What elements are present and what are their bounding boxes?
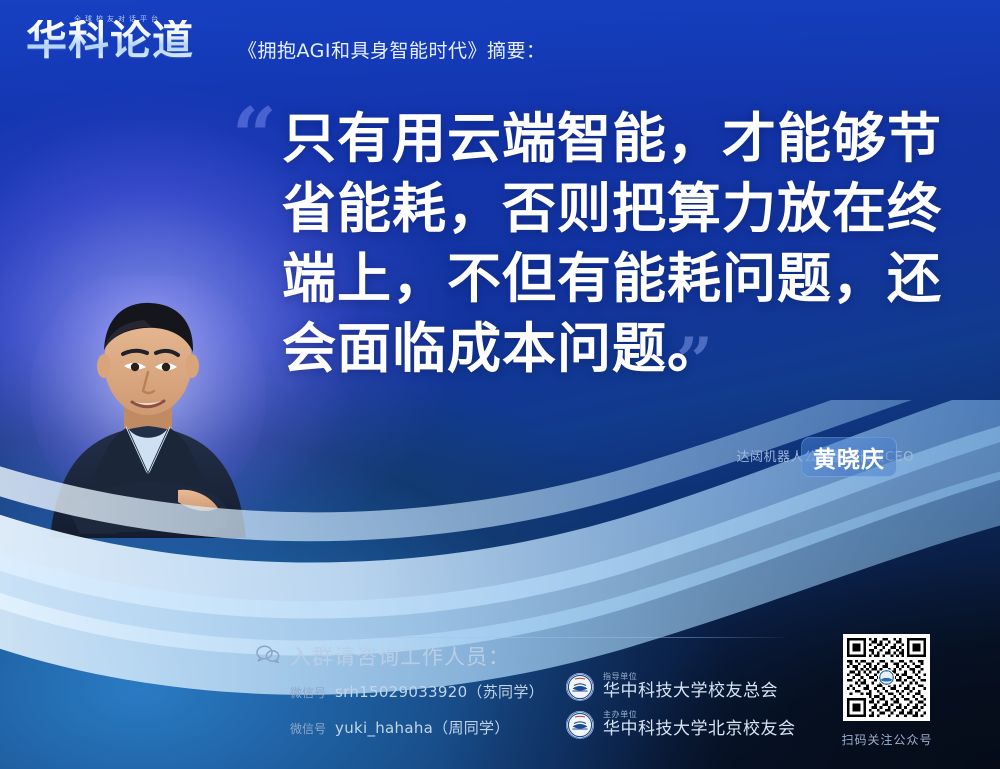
contact-heading: 入群请咨询工作人员： [290, 641, 510, 671]
university-seal-icon [565, 710, 595, 740]
qr-caption: 扫码关注公众号 [839, 731, 935, 748]
quote-text: 只有用云端智能，才能够节省能耗，否则把算力放在终端上，不但有能耗问题，还会面临成… [282, 104, 942, 384]
organization-name: 华中科技大学校友总会 [603, 683, 778, 701]
university-seal-icon [565, 672, 595, 702]
organization-row: 主办单位 华中科技大学北京校友会 [565, 710, 796, 740]
wechat-id: yuki_hahaha（周同学） [335, 717, 510, 738]
wechat-label: 微信号 [290, 720, 326, 737]
footer-divider [288, 637, 785, 638]
wechat-icon [256, 645, 280, 663]
quote-open-mark: “ [232, 98, 277, 176]
wechat-label: 微信号 [290, 684, 326, 701]
quote-close-mark: ” [676, 330, 713, 394]
brand-logo[interactable]: 全球校友对话平台 华科论道 [26, 12, 222, 72]
poster-root: 全球校友对话平台 华科论道 《拥抱AGI和具身智能时代》摘要： “ 只有用云端智… [0, 0, 1000, 769]
organization-name: 华中科技大学北京校友会 [603, 721, 796, 739]
qr-code-image [847, 638, 926, 717]
speaker-name: 黄晓庆 [813, 440, 885, 474]
wechat-id: srh15029033920（苏同学） [335, 681, 544, 702]
organization-kind: 指导单位 [603, 673, 778, 681]
qr-code[interactable] [843, 634, 930, 721]
logo-wordmark: 华科论道 [26, 20, 194, 61]
contact-row[interactable]: 微信号 yuki_hahaha（周同学） [290, 717, 510, 738]
header: 全球校友对话平台 华科论道 《拥抱AGI和具身智能时代》摘要： [26, 12, 546, 72]
speaker-portrait [28, 276, 268, 538]
contact-row[interactable]: 微信号 srh15029033920（苏同学） [290, 681, 544, 702]
page-title: 《拥抱AGI和具身智能时代》摘要： [238, 36, 546, 72]
speaker-name-badge: 黄晓庆 [801, 437, 897, 477]
organization-row: 指导单位 华中科技大学校友总会 [565, 672, 778, 702]
organization-kind: 主办单位 [603, 711, 796, 719]
